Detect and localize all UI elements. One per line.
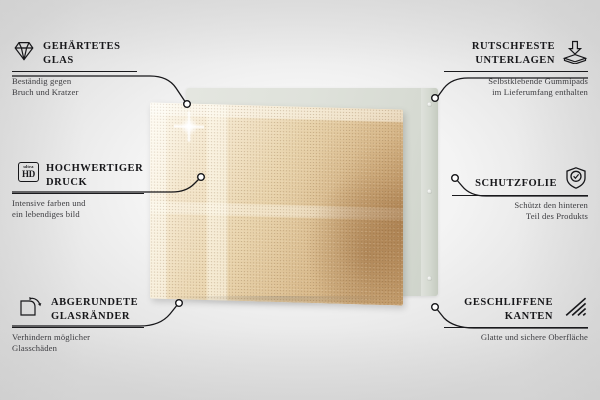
rubber-pad xyxy=(427,189,432,194)
callout-title-line2: DRUCK xyxy=(46,176,143,190)
callout-subtitle: Beständig gegen xyxy=(12,76,150,88)
callout-title: SCHUTZFOLIE xyxy=(475,166,557,191)
callout-subtitle-line2: ein lebendiges bild xyxy=(12,209,158,221)
callout-title: GEHÄRTETES xyxy=(43,40,121,54)
callout-rule xyxy=(444,327,588,328)
rounded-corner-icon xyxy=(18,296,44,318)
callout-rule xyxy=(12,71,137,72)
product-drop-shadow xyxy=(154,296,404,310)
rubber-pad xyxy=(427,276,432,281)
callout-title-line2: GLASRÄNDER xyxy=(51,310,138,324)
hatched-triangle-icon xyxy=(560,296,588,318)
product-glass-panel xyxy=(150,102,403,305)
callout-rule xyxy=(12,327,144,328)
callout-subtitle-line2: Bruch und Kratzer xyxy=(12,87,150,99)
ultra-hd-icon: ultra HD xyxy=(18,162,39,182)
callout-title: HOCHWERTIGER xyxy=(46,162,143,176)
callout-rounded-glass-edges[interactable]: ABGERUNDETE GLASRÄNDER Verhindern möglic… xyxy=(18,296,158,355)
callout-title: RUTSCHFESTE xyxy=(472,40,555,54)
callout-ground-edges[interactable]: GESCHLIFFENE KANTEN Glatte und sichere O… xyxy=(444,296,588,343)
callout-title-line2: KANTEN xyxy=(464,310,553,324)
callout-rule xyxy=(12,193,144,194)
callout-subtitle: Intensive farben und xyxy=(12,198,158,210)
callout-rule xyxy=(452,195,588,196)
ultra-hd-icon-bottom: HD xyxy=(22,170,35,179)
callout-rule xyxy=(444,71,588,72)
callout-subtitle-line2: Glasschäden xyxy=(12,343,158,355)
callout-title-line2: UNTERLAGEN xyxy=(472,54,555,68)
callout-tempered-glass[interactable]: GEHÄRTETES GLAS Beständig gegen Bruch un… xyxy=(12,40,150,99)
product-glass-gloss xyxy=(150,102,403,305)
callout-subtitle: Glatte und sichere Oberfläche xyxy=(444,332,588,344)
callout-subtitle: Schützt den hinteren xyxy=(452,200,588,212)
shield-check-icon xyxy=(564,166,588,190)
callout-protective-film[interactable]: SCHUTZFOLIE Schützt den hinteren Teil de… xyxy=(452,166,588,223)
callout-non-slip-base[interactable]: RUTSCHFESTE UNTERLAGEN Selbstklebende Gu… xyxy=(444,40,588,99)
diamond-icon xyxy=(12,40,36,62)
callout-title-line2: GLAS xyxy=(43,54,121,68)
product-image xyxy=(150,88,440,310)
rubber-pad xyxy=(427,102,432,107)
callout-subtitle-line2: im Lieferumfang enthalten xyxy=(444,87,588,99)
callout-high-quality-print[interactable]: ultra HD HOCHWERTIGER DRUCK Intensive fa… xyxy=(18,162,158,221)
callout-subtitle: Selbstklebende Gummipads xyxy=(444,76,588,88)
callout-title: ABGERUNDETE xyxy=(51,296,138,310)
arrow-down-pad-icon xyxy=(562,40,588,64)
callout-title: GESCHLIFFENE xyxy=(464,296,553,310)
callout-subtitle: Verhindern möglicher xyxy=(12,332,158,344)
callout-subtitle-line2: Teil des Produkts xyxy=(452,211,588,223)
